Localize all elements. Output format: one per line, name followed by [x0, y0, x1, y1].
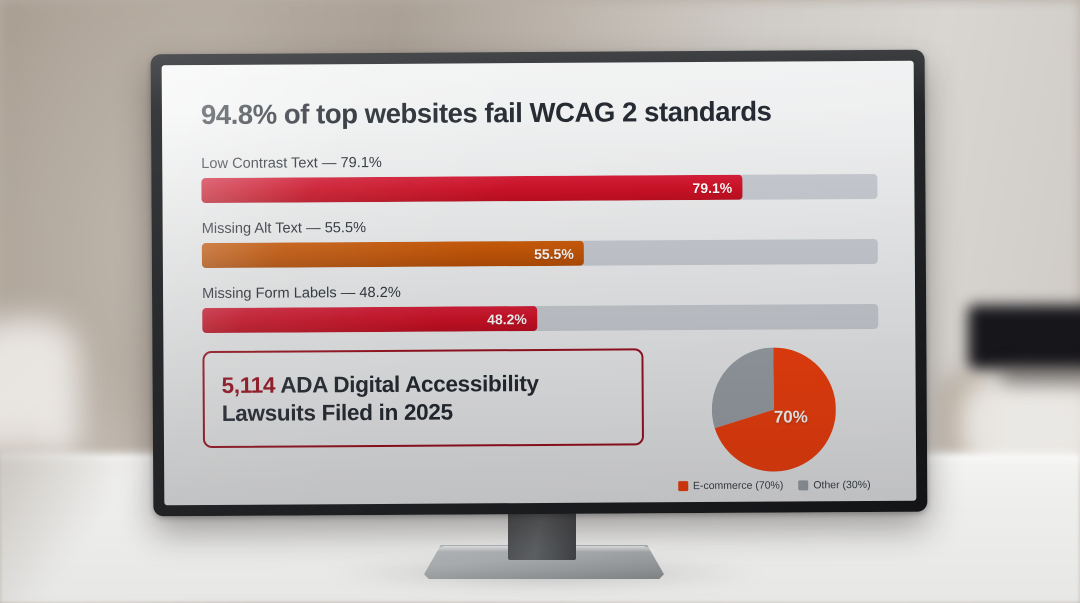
callout-number: 5,114 — [222, 373, 276, 398]
background-tv-blur — [968, 305, 1080, 369]
bar-fill: 55.5% — [202, 241, 584, 268]
slide-content: 94.8% of top websites fail WCAG 2 standa… — [162, 61, 917, 506]
bar-value-label: 55.5% — [534, 245, 584, 261]
legend-label: E-commerce (70%) — [693, 480, 784, 493]
bar-value-label: 79.1% — [692, 179, 742, 195]
bar-track: 55.5% — [202, 239, 878, 268]
bar-group-missing-alt-text: Missing Alt Text — 55.5% 55.5% — [202, 217, 876, 268]
pie-legend: E-commerce (70%) Other (30%) — [678, 479, 871, 492]
bar-label: Missing Form Labels — 48.2% — [202, 282, 876, 302]
callout-text: 5,114 ADA Digital Accessibility Lawsuits… — [222, 370, 625, 427]
monitor-screen: 94.8% of top websites fail WCAG 2 standa… — [162, 61, 917, 506]
legend-swatch-icon — [798, 480, 808, 490]
pie-graphic: 70% — [711, 347, 836, 472]
bar-chart: Low Contrast Text — 79.1% 79.1% Missing … — [201, 152, 876, 333]
bar-track: 79.1% — [201, 174, 877, 203]
bar-label: Missing Alt Text — 55.5% — [202, 217, 876, 237]
legend-label: Other (30%) — [813, 479, 870, 491]
bar-value-label: 48.2% — [487, 311, 537, 327]
pie-center-label: 70% — [774, 407, 808, 427]
bottom-row: 5,114 ADA Digital Accessibility Lawsuits… — [202, 347, 877, 495]
legend-item-ecommerce: E-commerce (70%) — [678, 480, 784, 493]
background-tv-stand-blur — [1000, 366, 1080, 384]
monitor-stand-neck — [508, 508, 576, 560]
legend-swatch-icon — [678, 481, 688, 491]
bar-fill: 48.2% — [202, 306, 537, 333]
bar-fill: 79.1% — [201, 175, 742, 203]
bar-track: 48.2% — [202, 304, 878, 333]
bar-label: Low Contrast Text — 79.1% — [201, 152, 875, 172]
bar-group-missing-form-labels: Missing Form Labels — 48.2% 48.2% — [202, 282, 876, 333]
page-title: 94.8% of top websites fail WCAG 2 standa… — [201, 95, 875, 131]
bar-group-low-contrast-text: Low Contrast Text — 79.1% 79.1% — [201, 152, 875, 203]
lawsuits-callout-box: 5,114 ADA Digital Accessibility Lawsuits… — [202, 348, 644, 448]
legend-item-other: Other (30%) — [798, 479, 870, 491]
pie-chart: 70% E-commerce (70%) Other (30%) — [673, 347, 874, 492]
monitor-bezel: 94.8% of top websites fail WCAG 2 standa… — [151, 50, 928, 517]
